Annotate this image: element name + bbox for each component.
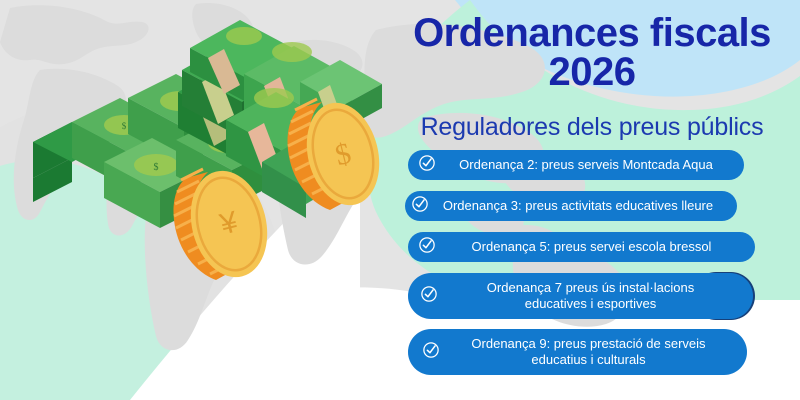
svg-text:$: $ <box>122 121 127 131</box>
check-circle-icon <box>420 285 438 308</box>
check-circle-icon <box>422 341 440 364</box>
check-circle-icon <box>418 154 436 177</box>
ordinance-pill-9[interactable]: Ordenança 9: preus prestació de serveis … <box>408 329 747 375</box>
money-illustration: $ $ <box>0 0 400 400</box>
ordinance-label: Ordenança 3: preus activitats educatives… <box>431 198 737 214</box>
poster-canvas: $ $ <box>0 0 800 400</box>
ordinance-label: Ordenança 9: preus prestació de serveis … <box>442 336 747 368</box>
ordinance-label: Ordenança 2: preus serveis Montcada Aqua <box>440 157 744 173</box>
ordinance-pill-5[interactable]: Ordenança 5: preus servei escola bressol <box>408 232 755 262</box>
ordinance-pill-3[interactable]: Ordenança 3: preus activitats educatives… <box>405 191 737 221</box>
svg-text:$: $ <box>154 162 159 173</box>
ordinance-label: Ordenança 5: preus servei escola bressol <box>440 239 755 255</box>
content-column: Ordenances fiscals 2026 Reguladores dels… <box>392 0 800 400</box>
page-subtitle: Reguladores dels preus públics <box>392 113 792 142</box>
ordinance-pill-2[interactable]: Ordenança 2: preus serveis Montcada Aqua <box>408 150 744 180</box>
ordinance-pill-7[interactable]: Ordenança 7 preus ús instal·lacions educ… <box>408 273 753 319</box>
check-circle-icon <box>411 195 429 218</box>
check-circle-icon <box>418 236 436 259</box>
ordinance-label: Ordenança 7 preus ús instal·lacions educ… <box>440 280 753 312</box>
page-title: Ordenances fiscals 2026 <box>392 14 792 92</box>
